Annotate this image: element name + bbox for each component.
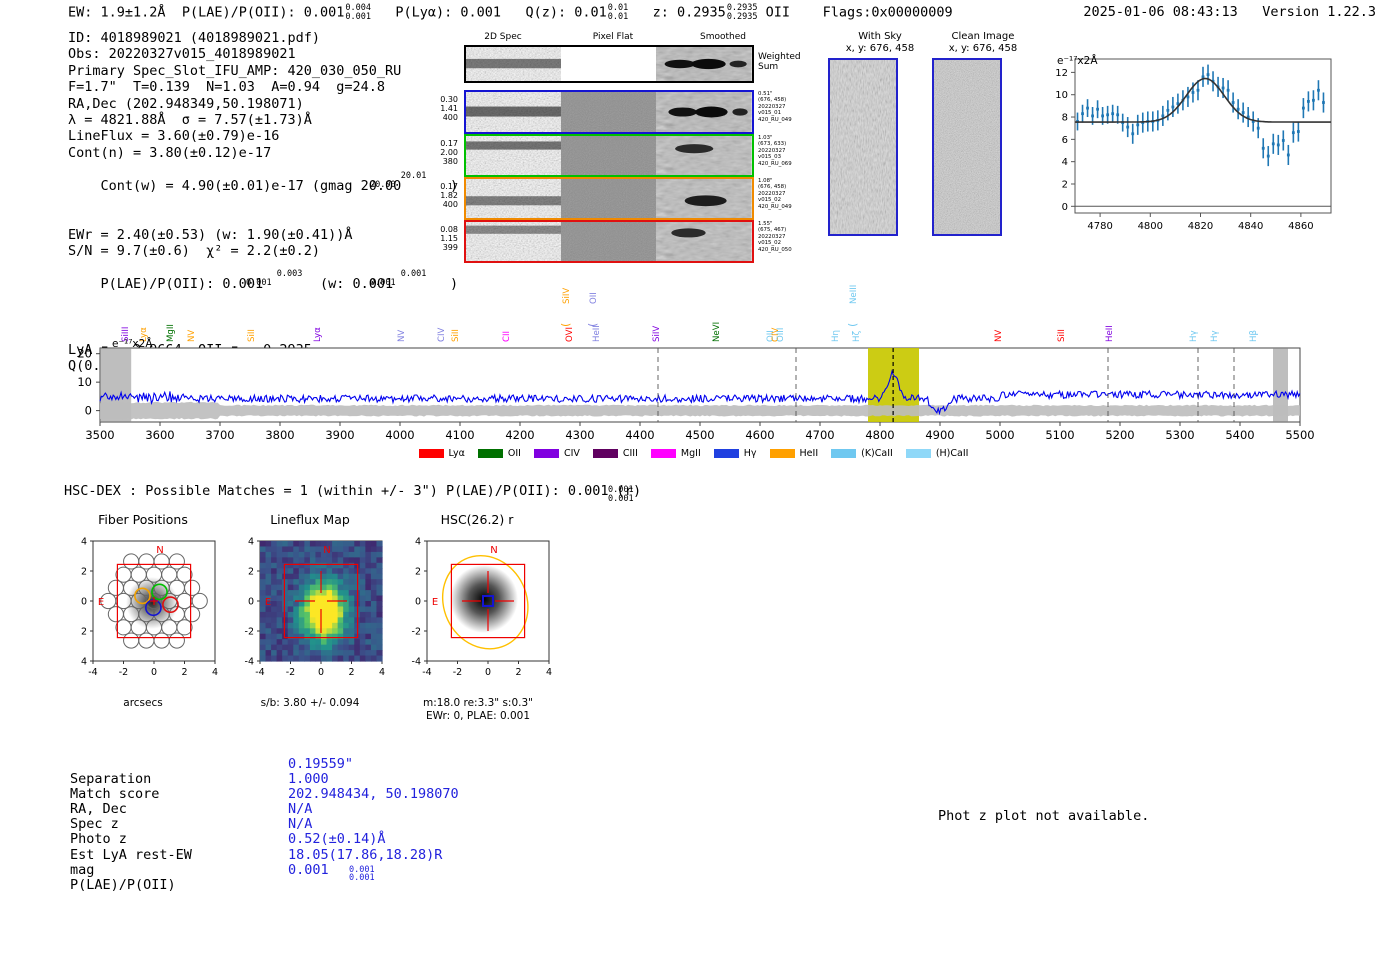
svg-text:4900: 4900 bbox=[925, 428, 954, 442]
svg-text:3600: 3600 bbox=[145, 428, 174, 442]
legend-label: Lyα bbox=[449, 448, 465, 459]
info-line-slot: Primary Spec_Slot_IFU_AMP: 420_030_050_R… bbox=[68, 63, 458, 79]
strip1-left-labels: 0.301.41400 bbox=[418, 95, 458, 123]
legend-swatch bbox=[714, 449, 739, 458]
legend-swatch bbox=[478, 449, 503, 458]
strip2-right-labels: 1.03"(673, 633) 20220327v015_03 420_RU_0… bbox=[758, 135, 818, 167]
svg-text:2: 2 bbox=[348, 667, 354, 678]
info-line-contn: Cont(n) = 3.80(±0.12)e-17 bbox=[68, 145, 458, 161]
ws-pixelflat-image bbox=[561, 47, 656, 81]
info-line-contw: Cont(w) = 4.90(±0.01)e-17 (gmag 20.00 ) … bbox=[68, 161, 458, 227]
svg-text:0: 0 bbox=[415, 597, 421, 608]
svg-text:N: N bbox=[490, 545, 497, 556]
legend-label: (K)CaII bbox=[861, 448, 893, 459]
legend-label: MgII bbox=[681, 448, 701, 459]
svg-text:-2: -2 bbox=[453, 667, 462, 678]
spec2d-panel: 2D Spec Pixel Flat Smoothed WeightedSum bbox=[418, 32, 818, 257]
fiber-positions-plot: -4-202442024NE bbox=[63, 533, 223, 678]
svg-text:0: 0 bbox=[151, 667, 157, 678]
svg-text:2: 2 bbox=[415, 567, 421, 578]
header-timestamp-block: 2025-01-06 08:43:13 Version 1.22.3 bbox=[1083, 4, 1376, 20]
svg-text:8: 8 bbox=[1062, 113, 1068, 124]
strip3-2dspec-image bbox=[466, 179, 561, 218]
match-label-4: Photo z bbox=[70, 832, 127, 847]
svg-text:2: 2 bbox=[248, 567, 254, 578]
svg-text:4400: 4400 bbox=[625, 428, 654, 442]
svg-text:2: 2 bbox=[81, 567, 87, 578]
header-summary: EW: 1.9±1.2Å P(LAE)/P(OII): 0.0010.0040.… bbox=[68, 4, 953, 21]
header-qz-value: 0.01 bbox=[574, 5, 607, 21]
cleanimage-image bbox=[932, 58, 1002, 236]
match-label-5: Est LyA rest-EW bbox=[70, 848, 192, 863]
match-label-1: Match score bbox=[70, 787, 159, 802]
strip2-2dspec-image bbox=[466, 136, 561, 175]
match-value-7: 0.0010.0010.001 bbox=[288, 863, 329, 878]
spec2d-strip-1 bbox=[464, 90, 754, 134]
spec2d-col-smoothed: Smoothed bbox=[668, 32, 778, 42]
spec2d-strip-2 bbox=[464, 134, 754, 177]
header-qz-label: Q(z): bbox=[525, 5, 566, 21]
strip4-left-labels: 0.081.15399 bbox=[418, 225, 458, 253]
svg-text:0: 0 bbox=[318, 667, 324, 678]
svg-text:2: 2 bbox=[1062, 179, 1068, 190]
strip2-left-labels: 0.172.00380 bbox=[418, 139, 458, 167]
header-flags: Flags:0x00000009 bbox=[823, 5, 953, 21]
header-z-type: OII bbox=[766, 5, 790, 21]
legend-swatch bbox=[906, 449, 931, 458]
svg-text:-2: -2 bbox=[412, 627, 421, 638]
svg-text:N: N bbox=[323, 545, 330, 556]
weighted-sum-label: WeightedSum bbox=[758, 52, 801, 72]
strip2-pixelflat-image bbox=[561, 136, 656, 175]
svg-text:2: 2 bbox=[181, 667, 187, 678]
version-label: Version 1.22.3 bbox=[1262, 4, 1376, 20]
svg-text:10: 10 bbox=[1055, 90, 1068, 101]
legend-label: HeII bbox=[800, 448, 819, 459]
svg-text:5200: 5200 bbox=[1105, 428, 1134, 442]
svg-text:4: 4 bbox=[81, 657, 87, 668]
header-qz-frac: 0.010.01 bbox=[608, 4, 628, 21]
legend-label: OII bbox=[508, 448, 521, 459]
legend-item-0: Lyα bbox=[419, 448, 465, 459]
svg-text:5500: 5500 bbox=[1285, 428, 1314, 442]
info-line-ewr: EWr = 2.40(±0.53) (w: 1.90(±0.41))Å bbox=[68, 227, 458, 243]
svg-text:4: 4 bbox=[546, 667, 552, 678]
spec2d-strip-4 bbox=[464, 220, 754, 263]
info-line-radec: RA,Dec (202.948349,50.198071) bbox=[68, 96, 458, 112]
match-value-5: 0.52(±0.14)Å bbox=[288, 832, 386, 847]
strip3-smoothed-image bbox=[656, 179, 752, 218]
strip1-pixelflat-image bbox=[561, 92, 656, 132]
legend-item-8: (H)CaII bbox=[906, 448, 969, 459]
svg-text:4820: 4820 bbox=[1188, 221, 1213, 232]
spec2d-weighted-sum-strip bbox=[464, 45, 754, 83]
svg-text:0: 0 bbox=[81, 597, 87, 608]
svg-text:4700: 4700 bbox=[805, 428, 834, 442]
svg-text:0: 0 bbox=[1062, 202, 1068, 213]
svg-text:4: 4 bbox=[1062, 157, 1068, 168]
svg-text:E: E bbox=[265, 597, 271, 608]
fiber-positions-title: Fiber Positions bbox=[58, 512, 228, 527]
spec2d-col-pixelflat: Pixel Flat bbox=[558, 32, 668, 42]
svg-text:0: 0 bbox=[85, 404, 92, 418]
svg-text:-4: -4 bbox=[422, 667, 431, 678]
legend-item-7: (K)CaII bbox=[831, 448, 893, 459]
strip2-smoothed-image bbox=[656, 136, 752, 175]
svg-text:4: 4 bbox=[81, 537, 87, 548]
strip1-smoothed-image bbox=[656, 92, 752, 132]
match-value-6: 18.05(17.86,18.28)R bbox=[288, 848, 442, 863]
strip4-smoothed-image bbox=[656, 222, 752, 261]
svg-text:4: 4 bbox=[379, 667, 385, 678]
strip4-right-labels: 1.55"(675, 467) 20220327v015_02 420_RU_0… bbox=[758, 221, 818, 253]
svg-text:0: 0 bbox=[248, 597, 254, 608]
hsc-r-title: HSC(26.2) r bbox=[392, 512, 562, 527]
svg-text:4: 4 bbox=[212, 667, 218, 678]
match-plae-frac: 0.0010.001 bbox=[349, 866, 375, 883]
svg-text:4860: 4860 bbox=[1288, 221, 1313, 232]
legend-item-5: Hγ bbox=[714, 448, 757, 459]
svg-text:4: 4 bbox=[248, 537, 254, 548]
svg-text:-4: -4 bbox=[245, 657, 254, 668]
header-z-value: 0.2935 bbox=[677, 5, 726, 21]
full-spectrum-panel: SiIII(Lyα(MgII(NV(SiII(Lyα(NV(CIV(SiII(C… bbox=[0, 270, 1400, 470]
match-value-1: 1.000 bbox=[288, 772, 329, 787]
strip3-right-labels: 1.08"(676, 458) 20220327v015_02 420_RU_0… bbox=[758, 178, 818, 210]
legend-swatch bbox=[651, 449, 676, 458]
svg-text:2: 2 bbox=[81, 627, 87, 638]
svg-text:-4: -4 bbox=[412, 657, 421, 668]
svg-text:10: 10 bbox=[77, 375, 92, 389]
svg-text:6: 6 bbox=[1062, 135, 1068, 146]
spectrum-legend: LyαOIICIVCIIIMgIIHγHeII(K)CaII(H)CaII bbox=[0, 448, 1400, 459]
strip4-2dspec-image bbox=[466, 222, 561, 261]
info-line-lambda: λ = 4821.88Å σ = 7.57(±1.73)Å bbox=[68, 112, 458, 128]
header-ew: EW: 1.9±1.2Å bbox=[68, 5, 166, 21]
spectrum-units: e⁻¹⁷x2Å bbox=[112, 338, 153, 350]
withsky-title: With Sky x, y: 676, 458 bbox=[825, 31, 935, 55]
match-label-0: Separation bbox=[70, 772, 151, 787]
svg-text:4100: 4100 bbox=[445, 428, 474, 442]
header-plae-value: 0.001 bbox=[304, 5, 345, 21]
match-label-3: Spec z bbox=[70, 817, 119, 832]
svg-text:3700: 3700 bbox=[205, 428, 234, 442]
svg-text:4840: 4840 bbox=[1238, 221, 1263, 232]
svg-text:E: E bbox=[98, 597, 104, 608]
svg-text:4500: 4500 bbox=[685, 428, 714, 442]
legend-item-1: OII bbox=[478, 448, 521, 459]
strip1-2dspec-image bbox=[466, 92, 561, 132]
svg-text:4000: 4000 bbox=[385, 428, 414, 442]
withsky-image bbox=[828, 58, 898, 236]
svg-text:-2: -2 bbox=[245, 627, 254, 638]
svg-text:3500: 3500 bbox=[85, 428, 114, 442]
legend-item-2: CIV bbox=[534, 448, 580, 459]
hsc-plae-frac: 0.0010.001 bbox=[608, 486, 634, 503]
svg-text:12: 12 bbox=[1055, 68, 1068, 79]
info-line-obs: Obs: 20220327v015_4018989021 bbox=[68, 46, 458, 62]
svg-text:4800: 4800 bbox=[1138, 221, 1163, 232]
hsc-dex-line: HSC-DEX : Possible Matches = 1 (within +… bbox=[64, 483, 641, 499]
svg-text:N: N bbox=[156, 545, 163, 556]
legend-label: CIII bbox=[623, 448, 638, 459]
strip3-left-labels: 0.171.82400 bbox=[418, 182, 458, 210]
spec2d-col-2dspec: 2D Spec bbox=[448, 32, 558, 42]
svg-text:-4: -4 bbox=[255, 667, 264, 678]
ws-smoothed-image bbox=[656, 47, 752, 81]
info-line-lineflux: LineFlux = 3.60(±0.79)e-16 bbox=[68, 128, 458, 144]
legend-label: CIV bbox=[564, 448, 580, 459]
svg-text:4300: 4300 bbox=[565, 428, 594, 442]
svg-text:4: 4 bbox=[415, 537, 421, 548]
legend-item-4: MgII bbox=[651, 448, 701, 459]
svg-text:3900: 3900 bbox=[325, 428, 354, 442]
match-label-2: RA, Dec bbox=[70, 802, 127, 817]
header-plae-label: P(LAE)/P(OII): bbox=[182, 5, 296, 21]
svg-text:5300: 5300 bbox=[1165, 428, 1194, 442]
lineflux-map-title: Lineflux Map bbox=[225, 512, 395, 527]
info-line-id: ID: 4018989021 (4018989021.pdf) bbox=[68, 30, 458, 46]
svg-text:5100: 5100 bbox=[1045, 428, 1074, 442]
match-label-6: mag bbox=[70, 863, 94, 878]
photz-note: Phot z plot not available. bbox=[938, 808, 1149, 824]
match-label-7: P(LAE)/P(OII) bbox=[70, 878, 176, 893]
svg-text:E: E bbox=[432, 597, 438, 608]
svg-text:-2: -2 bbox=[286, 667, 295, 678]
strip1-right-labels: 0.51"(676, 458) 20220327v015_01 420_RU_0… bbox=[758, 91, 818, 123]
legend-swatch bbox=[534, 449, 559, 458]
legend-swatch bbox=[770, 449, 795, 458]
info-line-sn: S/N = 9.7(±0.6) χ² = 2.2(±0.2) bbox=[68, 243, 458, 259]
legend-label: (H)CaII bbox=[936, 448, 969, 459]
hsc-r-caption: m:18.0 re:3.3" s:0.3" EWr: 0, PLAE: 0.00… bbox=[378, 697, 578, 723]
svg-text:2: 2 bbox=[515, 667, 521, 678]
timestamp: 2025-01-06 08:43:13 bbox=[1083, 4, 1237, 20]
legend-swatch bbox=[593, 449, 618, 458]
line-profile-units: e⁻¹⁷x2Å bbox=[1057, 55, 1098, 67]
spec2d-strip-3 bbox=[464, 177, 754, 220]
header-plya-value: 0.001 bbox=[460, 5, 501, 21]
svg-text:4780: 4780 bbox=[1087, 221, 1112, 232]
svg-text:-4: -4 bbox=[88, 667, 97, 678]
info-line-params: F=1.7" T=0.139 N=1.03 A=0.94 g=24.8 bbox=[68, 79, 458, 95]
svg-text:20: 20 bbox=[77, 347, 92, 361]
match-value-0: 0.19559" bbox=[288, 757, 353, 772]
svg-text:5400: 5400 bbox=[1225, 428, 1254, 442]
strip4-pixelflat-image bbox=[561, 222, 656, 261]
cleanimage-title: Clean Image x, y: 676, 458 bbox=[928, 31, 1038, 55]
line-profile-plot: 02468101247804800482048404860 e⁻¹⁷x2Å bbox=[1035, 45, 1335, 250]
svg-text:4600: 4600 bbox=[745, 428, 774, 442]
match-value-3: N/A bbox=[288, 802, 312, 817]
svg-text:3800: 3800 bbox=[265, 428, 294, 442]
match-value-2: 202.948434, 50.198070 bbox=[288, 787, 459, 802]
header-plya-label: P(Lyα): bbox=[395, 5, 452, 21]
svg-text:0: 0 bbox=[485, 667, 491, 678]
header-plae-frac: 0.0040.001 bbox=[345, 4, 371, 21]
legend-swatch bbox=[419, 449, 444, 458]
hsc-r-plot: -4-2024420-2-4NE bbox=[397, 533, 557, 678]
legend-item-3: CIII bbox=[593, 448, 638, 459]
legend-item-6: HeII bbox=[770, 448, 819, 459]
legend-swatch bbox=[831, 449, 856, 458]
svg-text:4800: 4800 bbox=[865, 428, 894, 442]
lineflux-map-plot: -4-2024420-2-4NE bbox=[230, 533, 390, 678]
strip3-pixelflat-image bbox=[561, 179, 656, 218]
header-z-label: z: bbox=[653, 5, 669, 21]
svg-text:5000: 5000 bbox=[985, 428, 1014, 442]
legend-label: Hγ bbox=[744, 448, 757, 459]
ws-2dspec-image bbox=[466, 47, 561, 81]
svg-text:-2: -2 bbox=[119, 667, 128, 678]
header-z-frac: 0.29350.2935 bbox=[727, 4, 758, 21]
svg-text:4200: 4200 bbox=[505, 428, 534, 442]
